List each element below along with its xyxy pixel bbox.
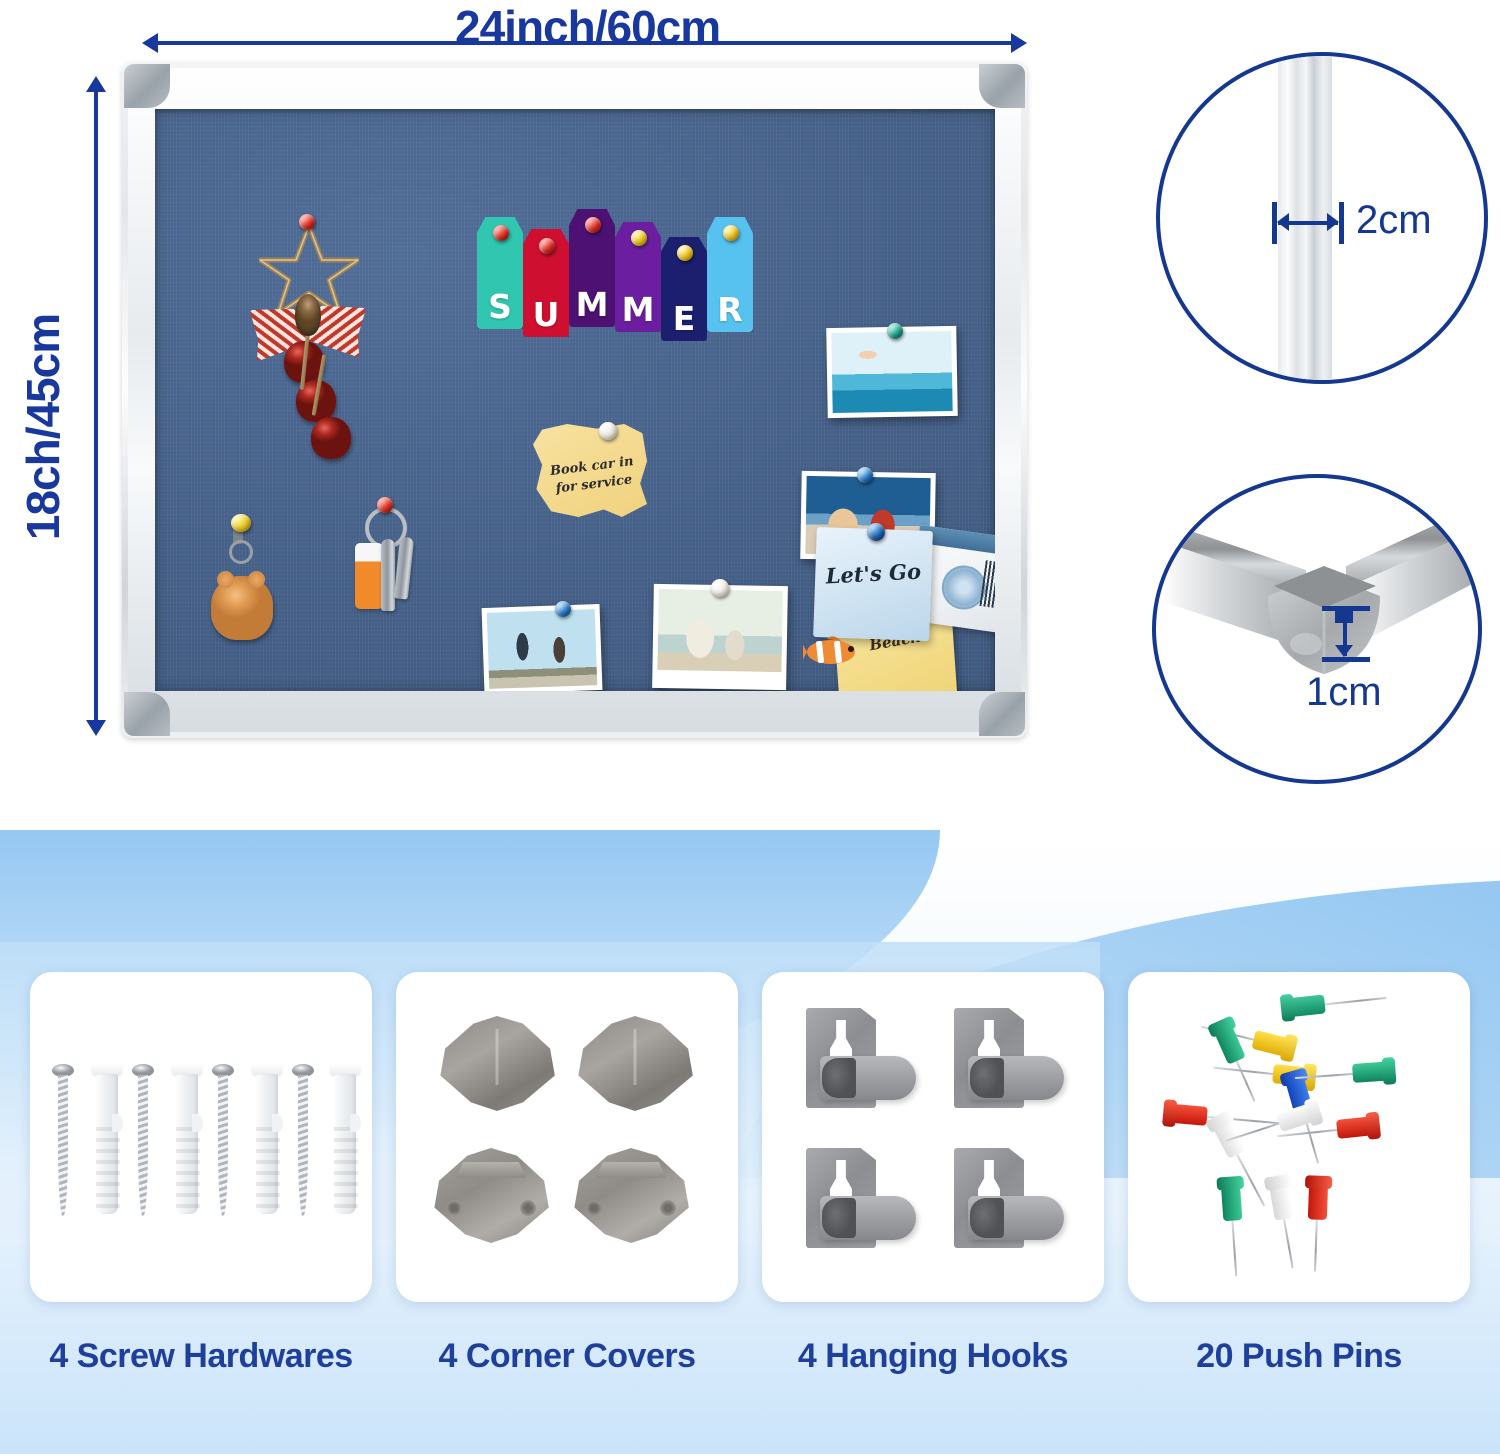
- frame-corner-cap: [979, 692, 1025, 736]
- corner-cover-icon: [438, 1016, 556, 1112]
- photo-pin-blue: [857, 467, 873, 483]
- car-service-note-pin: [599, 422, 617, 440]
- jingle-bell: [311, 417, 351, 459]
- photo-pin-teal: [887, 323, 903, 339]
- car-service-note-text: Book car in for service: [545, 453, 641, 500]
- hanging-hook-icon: [806, 1148, 916, 1248]
- ticket-barcode-icon: [979, 560, 995, 609]
- photo-kids-jumping-water: [826, 326, 958, 418]
- corner-depth-label: 1cm: [1306, 670, 1382, 715]
- accessory-card-screw-hardwares: [30, 972, 372, 1302]
- hanging-hook-icon: [954, 1008, 1064, 1108]
- keychain-ring: [229, 540, 253, 564]
- star-bell-ornament: [251, 214, 369, 459]
- accessory-label-push-pins: 20 Push Pins: [1128, 1332, 1470, 1402]
- corner-depth-measure-arrow: [1322, 606, 1370, 662]
- width-dimension-arrow: [142, 33, 1027, 53]
- blue-felt-surface: S U M M E R: [155, 109, 995, 691]
- frame-thickness-callout: 2cm: [1156, 52, 1488, 384]
- screw-icon: [56, 1064, 70, 1224]
- accessory-card-hanging-hooks: [762, 972, 1104, 1302]
- hanging-hook-icon: [806, 1008, 916, 1108]
- summer-tag-banner: S U M M E R: [477, 209, 777, 344]
- tag-pin-red: [539, 238, 555, 254]
- corner-cover-icon: [576, 1016, 694, 1112]
- photo-image: [487, 609, 598, 689]
- screw-icon: [216, 1064, 230, 1224]
- photo-pin-white: [711, 579, 729, 597]
- bear-keychain-pin: [231, 514, 251, 532]
- keys-keychain-pin: [377, 497, 393, 513]
- wall-anchor-icon: [252, 1064, 282, 1214]
- frame-corner-cap: [124, 64, 170, 108]
- accessory-label-screw-hardwares: 4 Screw Hardwares: [30, 1332, 372, 1402]
- bulletin-board: S U M M E R: [122, 62, 1027, 738]
- screw-icon: [296, 1064, 310, 1224]
- hanging-hook-icon: [954, 1148, 1064, 1248]
- accessory-label-corner-covers: 4 Corner Covers: [396, 1332, 738, 1402]
- accessories-section: 4 Screw Hardwares 4 Corner Covers 4 Hang…: [0, 812, 1500, 1454]
- tag-pin-yellow: [631, 230, 647, 246]
- lets-go-note: Let's Go: [813, 527, 933, 641]
- car-service-note: Book car in for service: [533, 424, 647, 517]
- tag-letter: S: [488, 290, 512, 323]
- key-fob: [355, 543, 383, 609]
- dimensions-section: 24inch/60cm 18ch/45cm: [0, 0, 1500, 812]
- bear-keychain: [207, 514, 277, 644]
- keys-keychain: [341, 497, 441, 632]
- corner-cover-icon: [432, 1148, 550, 1244]
- tag-letter: E: [673, 302, 696, 335]
- wall-anchor-icon: [172, 1064, 202, 1214]
- corner-depth-callout: 1cm: [1152, 474, 1482, 784]
- frame-thickness-label: 2cm: [1356, 198, 1432, 243]
- bear-charm-icon: [211, 576, 273, 640]
- key-icon: [381, 539, 395, 611]
- accessory-card-corner-covers: [396, 972, 738, 1302]
- ornament-pin: [299, 214, 315, 230]
- lets-go-note-text: Let's Go: [823, 560, 924, 587]
- tag-letter: U: [533, 298, 560, 331]
- tag-pin-red: [585, 217, 601, 233]
- photo-pin-blue: [555, 601, 571, 617]
- wall-anchor-icon: [330, 1064, 360, 1214]
- tag-letter: R: [717, 293, 742, 326]
- thickness-measure-arrow: [1272, 202, 1344, 244]
- frame-corner-illustration: [1156, 478, 1482, 784]
- product-infographic: 24inch/60cm 18ch/45cm: [0, 0, 1500, 1454]
- corner-cover-icon: [572, 1148, 690, 1244]
- frame-corner-cap: [979, 64, 1025, 108]
- photo-image: [831, 331, 952, 413]
- tag-pin-yellow: [723, 225, 739, 241]
- clownfish-icon: [803, 635, 861, 669]
- tag-pin-red: [493, 225, 509, 241]
- height-dimension-arrow: [86, 76, 106, 736]
- accessory-cards-row: [0, 972, 1500, 1302]
- accessory-labels-row: 4 Screw Hardwares 4 Corner Covers 4 Hang…: [0, 1332, 1500, 1402]
- tag-letter: M: [622, 293, 655, 326]
- photo-image: [657, 589, 782, 672]
- accessory-label-hanging-hooks: 4 Hanging Hooks: [762, 1332, 1104, 1402]
- lets-go-note-pin: [867, 523, 885, 541]
- height-dimension-label: 18ch/45cm: [16, 297, 70, 557]
- frame-corner-cap: [124, 692, 170, 736]
- accessory-card-push-pins: [1128, 972, 1470, 1302]
- photo-couple-jumping: [482, 604, 603, 691]
- pinecone-icon: [295, 294, 321, 336]
- tag-letter: M: [576, 288, 609, 321]
- tag-pin-yellow: [677, 245, 693, 261]
- photo-mother-child-beach: [652, 584, 788, 690]
- screw-icon: [136, 1064, 150, 1224]
- wall-anchor-icon: [92, 1064, 122, 1214]
